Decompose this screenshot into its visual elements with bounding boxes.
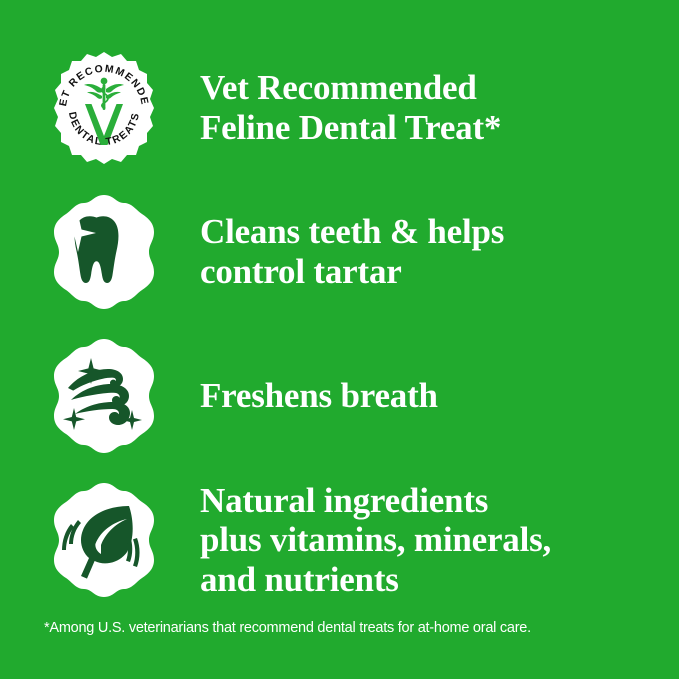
feature-row: VET RECOMMENDED DENTAL TREATS Vet Recomm… — [44, 48, 644, 168]
feature-row: Cleans teeth & helps control tartar — [44, 192, 644, 312]
product-benefits-infographic: VET RECOMMENDED DENTAL TREATS Vet Recomm… — [0, 0, 679, 679]
feature-row: Freshens breath — [44, 336, 644, 456]
feature-row: Natural ingredients plus vitamins, miner… — [44, 480, 644, 600]
fresh-breath-swirl-icon — [44, 336, 164, 456]
feature-list: VET RECOMMENDED DENTAL TREATS Vet Recomm… — [0, 0, 679, 610]
footnote-disclaimer: *Among U.S. veterinarians that recommend… — [44, 620, 644, 637]
leaf-icon — [44, 480, 164, 600]
feature-text-cleans-teeth: Cleans teeth & helps control tartar — [200, 212, 644, 291]
vet-recommended-seal-icon: VET RECOMMENDED DENTAL TREATS — [44, 48, 164, 168]
feature-text-vet-recommended: Vet Recommended Feline Dental Treat* — [200, 68, 644, 147]
feature-text-natural-ingredients: Natural ingredients plus vitamins, miner… — [200, 481, 644, 600]
sparkling-tooth-icon — [44, 192, 164, 312]
feature-text-freshens-breath: Freshens breath — [200, 376, 644, 416]
